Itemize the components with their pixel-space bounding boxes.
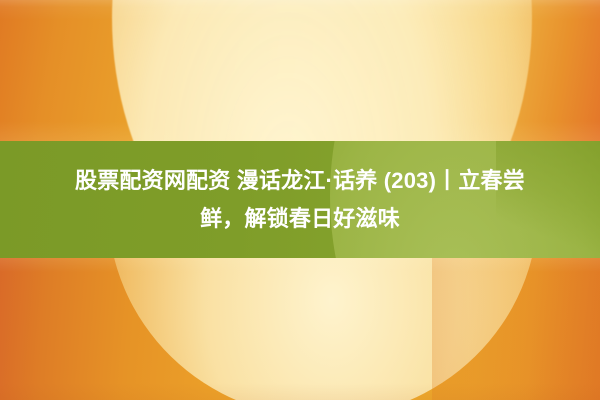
bottom-band-sheen-overlay [0,258,600,400]
banner-title: 股票配资网配资 漫话龙江·话养 (203)丨立春尝 鲜，解锁春日好滋味 [0,141,600,258]
banner-image: 股票配资网配资 漫话龙江·话养 (203)丨立春尝 鲜，解锁春日好滋味 [0,0,600,400]
bottom-orange-band [0,258,600,400]
top-orange-band [0,0,600,141]
banner-title-line-2: 鲜，解锁春日好滋味 [200,200,400,238]
top-band-sheen-overlay [0,0,600,141]
banner-title-line-1: 股票配资网配资 漫话龙江·话养 (203)丨立春尝 [75,162,525,200]
